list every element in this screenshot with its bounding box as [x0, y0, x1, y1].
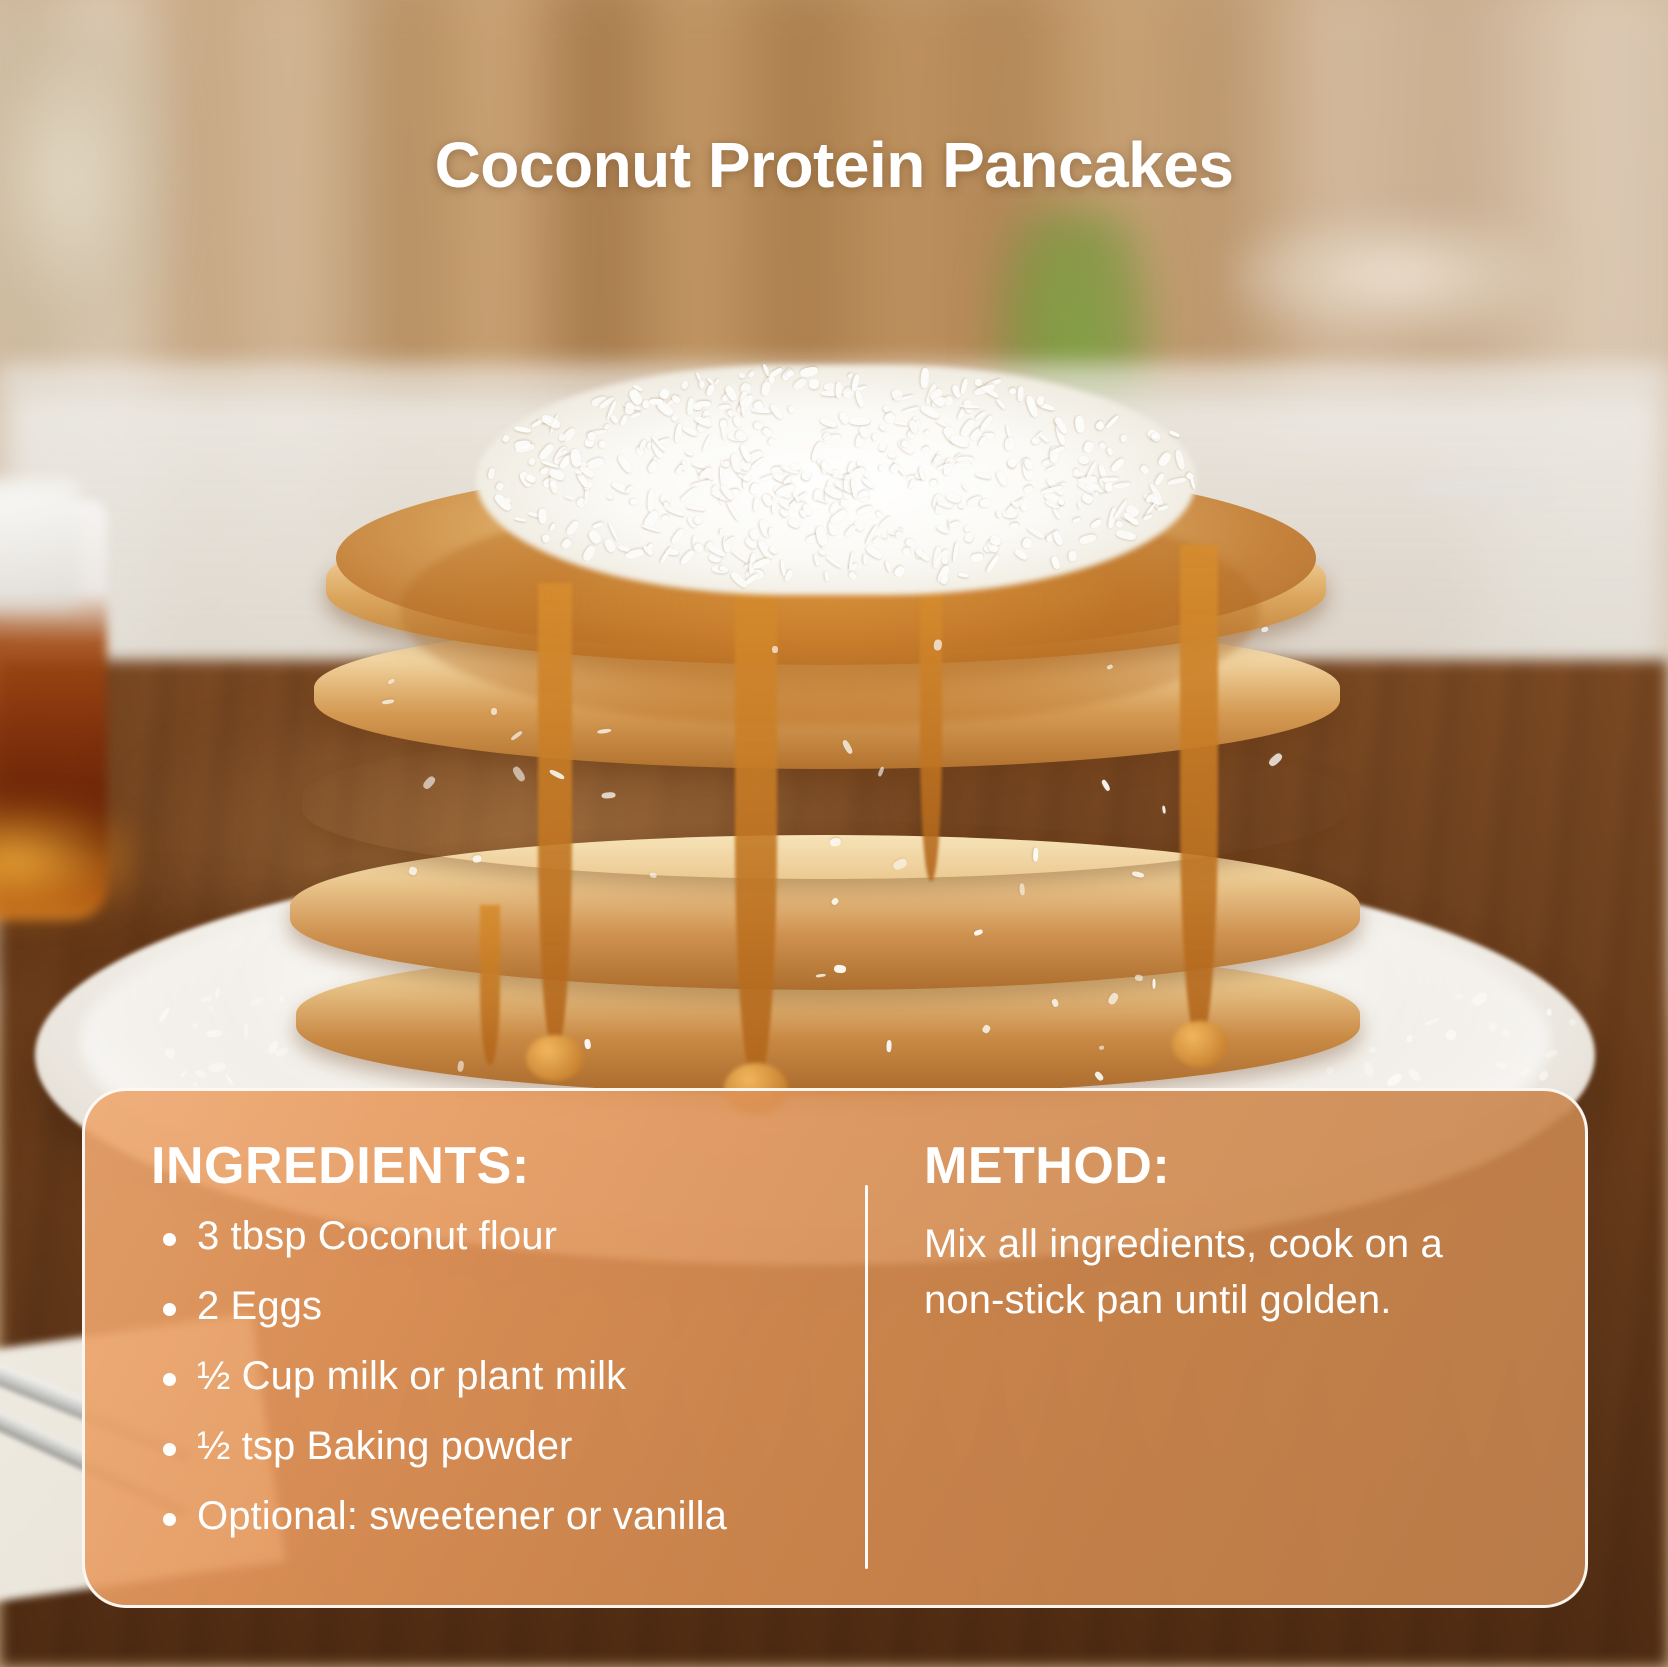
coconut-flake: [768, 527, 774, 536]
coconut-flake: [1014, 548, 1030, 562]
coconut-flake: [679, 548, 695, 565]
coconut-flake: [1168, 477, 1187, 486]
coconut-flake: [843, 474, 850, 492]
coconut-flake: [753, 422, 763, 430]
coconut-flake: [824, 571, 829, 581]
coconut-flake: [902, 547, 911, 556]
coconut-flake: [884, 560, 892, 573]
coconut-flake: [705, 384, 716, 398]
coconut-crumb: [248, 995, 265, 1006]
coconut-flake: [675, 464, 684, 475]
coconut-flake: [865, 525, 878, 545]
coconut-flake: [670, 413, 678, 421]
coconut-flake: [587, 529, 603, 546]
coconut-crumb: [209, 1006, 215, 1013]
coconut-flake: [761, 382, 771, 397]
coconut-flake: [514, 517, 527, 523]
coconut-flake-stray: [892, 857, 909, 871]
method-heading: METHOD:: [924, 1139, 1529, 1194]
coconut-flake: [581, 544, 597, 563]
coconut-flake: [935, 525, 949, 535]
coconut-flake-stray: [1051, 998, 1060, 1008]
coconut-flake: [787, 516, 801, 529]
coconut-flake: [607, 494, 614, 499]
coconut-flake-stray: [973, 928, 983, 936]
coconut-flake: [952, 542, 959, 562]
coconut-flake-stray: [549, 768, 565, 780]
coconut-flake: [964, 533, 974, 543]
coconut-crumb: [1547, 1009, 1552, 1016]
coconut-flake-stray: [829, 838, 841, 848]
coconut-flake: [1017, 386, 1024, 402]
coconut-flake: [649, 399, 663, 405]
coconut-flake: [719, 528, 724, 534]
coconut-flake: [538, 442, 555, 460]
coconut-flake-stray: [886, 1040, 891, 1052]
coconut-flake: [918, 467, 926, 482]
pancake-stack: [280, 345, 1380, 1125]
coconut-flake: [1078, 533, 1097, 546]
coconut-flake: [854, 390, 865, 408]
coconut-flake: [681, 380, 689, 389]
coconut-flake: [685, 450, 694, 457]
coconut-flake: [769, 366, 783, 378]
ingredients-column: INGREDIENTS: 3 tbsp Coconut flour 2 Eggs…: [85, 1091, 865, 1605]
coconut-flake: [879, 424, 887, 431]
coconut-flake: [799, 367, 819, 379]
coconut-flake: [587, 431, 597, 440]
coconut-flake-stray: [1261, 626, 1270, 633]
list-item: 3 tbsp Coconut flour: [151, 1216, 865, 1256]
coconut-flake: [487, 467, 495, 479]
coconut-flake: [1115, 529, 1136, 541]
coconut-flake: [617, 545, 630, 553]
coconut-flake-stray: [1107, 664, 1114, 670]
coconut-crumb: [158, 1006, 171, 1023]
coconut-flake: [986, 553, 1001, 572]
coconut-flake-stray: [878, 766, 885, 777]
coconut-flake: [699, 380, 705, 389]
coconut-flake: [548, 522, 556, 531]
coconut-flake: [1173, 449, 1185, 470]
coconut-flake: [753, 497, 759, 512]
coconut-flake: [1114, 481, 1131, 488]
coconut-flake: [849, 571, 858, 581]
coconut-flake: [564, 494, 574, 500]
coconut-flake: [695, 372, 701, 381]
coconut-flake-stray: [772, 646, 778, 653]
coconut-crumb: [214, 987, 220, 998]
coconut-crumb: [1406, 1035, 1414, 1044]
coconut-flake-stray: [387, 678, 395, 685]
coconut-flake: [988, 544, 998, 552]
coconut-flake: [957, 456, 974, 464]
coconut-flake: [670, 527, 686, 545]
coconut-flake: [959, 378, 968, 395]
coconut-flake: [849, 417, 870, 426]
coconut-flake: [647, 489, 656, 511]
coconut-flake: [730, 549, 749, 564]
coconut-flake: [541, 533, 550, 543]
coconut-flake: [895, 531, 904, 539]
coconut-flake: [930, 480, 938, 488]
coconut-flake: [561, 537, 573, 549]
coconut-flake: [1052, 531, 1064, 547]
coconut-flake-stray: [602, 792, 616, 799]
coconut-flake: [813, 554, 819, 566]
coconut-flake-stray: [510, 731, 523, 742]
coconut-flake: [748, 370, 756, 379]
list-item: ½ Cup milk or plant milk: [151, 1356, 865, 1396]
coconut-flake-stray: [830, 897, 839, 906]
coconut-crumb: [224, 1073, 235, 1087]
coconut-flake: [501, 434, 510, 443]
coconut-crumb: [205, 1030, 222, 1039]
coconut-crumb: [1501, 1029, 1510, 1038]
coconut-flake: [630, 498, 638, 505]
coconut-flake: [887, 451, 897, 459]
coconut-flake: [1005, 437, 1015, 451]
coconut-crumb: [194, 1069, 207, 1079]
coconut-flake: [825, 555, 842, 568]
coconut-flake: [995, 470, 1009, 487]
coconut-flake: [1023, 484, 1035, 495]
coconut-crumb: [1569, 1018, 1576, 1026]
coconut-flake: [787, 406, 795, 414]
coconut-flake: [599, 440, 606, 448]
coconut-flake: [855, 504, 873, 516]
coconut-flake-stray: [981, 1024, 991, 1034]
coconut-crumb: [1537, 1070, 1550, 1083]
coconut-flake: [528, 457, 536, 466]
coconut-flake-stray: [650, 872, 658, 878]
coconut-flake: [570, 449, 583, 468]
coconut-crumb: [1494, 1060, 1508, 1071]
coconut-flake: [861, 477, 876, 490]
coconut-flake: [995, 510, 1001, 518]
coconut-flake: [1050, 555, 1061, 570]
coconut-crumb: [244, 1023, 248, 1038]
coconut-flake-stray: [472, 854, 482, 863]
coconut-flake: [961, 483, 968, 492]
coconut-flake: [646, 442, 652, 449]
coconut-flake-stray: [491, 708, 498, 716]
coconut-flake: [1077, 502, 1082, 510]
coconut-flake: [1139, 464, 1150, 476]
coconut-flake: [819, 417, 837, 429]
coconut-flake: [575, 470, 582, 474]
coconut-crumb: [192, 1082, 198, 1088]
coconut-flake: [558, 433, 565, 441]
coconut-flake-stray: [457, 1060, 465, 1072]
coconut-crumb: [1488, 1023, 1497, 1032]
coconut-crumb: [201, 996, 213, 1003]
coconut-flake-stray: [597, 728, 612, 734]
coconut-flake: [863, 554, 868, 564]
coconut-flake: [1095, 421, 1106, 432]
coconut-flake: [638, 439, 647, 450]
coconut-flake: [565, 519, 581, 536]
coconut-flake-stray: [1098, 1045, 1104, 1050]
coconut-flake: [821, 460, 828, 473]
coconut-flake: [838, 411, 851, 426]
recipe-info-panel: INGREDIENTS: 3 tbsp Coconut flour 2 Eggs…: [82, 1088, 1588, 1608]
coconut-flake: [971, 553, 984, 562]
coconut-flake: [732, 415, 743, 428]
coconut-flake: [905, 538, 915, 547]
coconut-flakes: [280, 345, 1380, 1125]
coconut-flake-stray: [1019, 883, 1025, 896]
coconut-flake: [1156, 450, 1172, 468]
coconut-flake: [1082, 441, 1094, 455]
coconut-flake: [819, 548, 828, 556]
coconut-flake: [1022, 537, 1033, 549]
coconut-flake: [616, 453, 634, 474]
coconut-flake: [730, 453, 743, 474]
coconut-crumb: [164, 1047, 175, 1058]
coconut-flake: [603, 424, 610, 431]
coconut-crumb: [1456, 994, 1464, 999]
coconut-flake: [749, 482, 762, 496]
coconut-flake: [878, 465, 882, 471]
coconut-flake-stray: [833, 965, 846, 974]
coconut-flake: [889, 463, 901, 475]
coconut-flake-stray: [511, 765, 526, 783]
coconut-flake: [979, 498, 990, 507]
coconut-flake: [1010, 522, 1020, 529]
coconut-flake: [849, 478, 858, 498]
coconut-flake: [659, 387, 671, 400]
coconut-flake-stray: [382, 699, 395, 705]
coconut-flake-stray: [1162, 805, 1166, 813]
coconut-flake: [872, 433, 878, 441]
method-column: METHOD: Mix all ingredients, cook on a n…: [868, 1091, 1585, 1605]
list-item: 2 Eggs: [151, 1286, 865, 1326]
list-item: Optional: sweetener or vanilla: [151, 1496, 865, 1536]
coconut-flake: [725, 500, 740, 521]
coconut-flake: [809, 378, 820, 389]
coconut-flake-stray: [1267, 752, 1283, 768]
coconut-flake: [893, 564, 907, 578]
coconut-flake: [685, 504, 704, 511]
coconut-crumb: [1520, 1067, 1532, 1077]
coconut-flake: [674, 423, 683, 443]
coconut-flake: [1008, 387, 1017, 395]
coconut-flake: [495, 482, 505, 492]
coconut-flake: [1099, 442, 1106, 450]
coconut-crumb: [1424, 1017, 1439, 1027]
coconut-flake: [921, 367, 930, 387]
coconut-flake: [894, 421, 910, 427]
coconut-flake: [619, 415, 629, 428]
coconut-flake: [1078, 455, 1088, 463]
coconut-flake: [836, 382, 842, 398]
coconut-flake: [1072, 517, 1081, 524]
coconut-flake: [878, 441, 887, 451]
coconut-flake: [1069, 551, 1077, 561]
coconut-flake: [514, 425, 532, 433]
coconut-flake: [940, 574, 950, 585]
coconut-crumb: [1470, 990, 1489, 1007]
ingredients-list: 3 tbsp Coconut flour 2 Eggs ½ Cup milk o…: [151, 1216, 865, 1536]
list-item: ½ tsp Baking powder: [151, 1426, 865, 1466]
coconut-flake: [693, 402, 702, 410]
coconut-flake-stray: [408, 865, 419, 875]
coconut-flake: [1104, 481, 1114, 493]
coconut-flake: [1046, 465, 1056, 472]
coconut-crumb: [1385, 1071, 1404, 1089]
coconut-flake-stray: [816, 974, 826, 978]
coconut-flake: [957, 572, 967, 578]
coconut-flake: [995, 398, 1006, 409]
coconut-flake-stray: [1101, 779, 1111, 792]
coconut-flake: [610, 414, 619, 424]
coconut-flake-stray: [1134, 974, 1143, 982]
coconut-crumb: [1407, 1067, 1423, 1084]
coconut-flake: [1106, 447, 1114, 456]
coconut-flake: [1074, 415, 1085, 433]
coconut-flake: [844, 524, 857, 538]
coconut-flake: [792, 376, 808, 391]
coconut-flake-stray: [841, 739, 854, 755]
coconut-flake-stray: [584, 1039, 591, 1049]
coconut-flake: [537, 509, 546, 524]
coconut-flake: [739, 373, 746, 379]
coconut-flake: [701, 435, 712, 453]
coconut-crumb: [1545, 1049, 1559, 1059]
coconut-flake: [1169, 430, 1181, 438]
coconut-flake: [681, 424, 698, 437]
coconut-flake: [1105, 414, 1120, 429]
coconut-flake: [767, 437, 777, 447]
coconut-flake: [1110, 457, 1126, 473]
coconut-flake: [724, 461, 730, 467]
coconut-flake: [902, 406, 919, 415]
coconut-flake: [773, 497, 777, 513]
page-title: Coconut Protein Pancakes: [0, 128, 1668, 202]
ingredients-heading: INGREDIENTS:: [151, 1139, 865, 1194]
coconut-crumb: [180, 1071, 187, 1078]
coconut-flake: [591, 521, 603, 529]
coconut-crumb: [1445, 1030, 1456, 1042]
coconut-flake-stray: [933, 639, 942, 651]
coconut-flake: [1052, 508, 1062, 521]
coconut-flake: [761, 426, 773, 437]
coconut-flake: [680, 487, 698, 503]
coconut-flake: [958, 503, 965, 509]
coconut-flake: [975, 471, 992, 479]
coconut-flake-stray: [1106, 991, 1119, 1006]
method-text: Mix all ingredients, cook on a non-stick…: [924, 1216, 1529, 1330]
coconut-flake: [714, 379, 720, 386]
coconut-flake: [922, 446, 930, 453]
coconut-flake: [963, 524, 972, 532]
coconut-flake: [872, 536, 880, 544]
coconut-flake: [493, 493, 514, 514]
coconut-flake: [815, 525, 829, 546]
coconut-flake: [1090, 518, 1104, 530]
coconut-flake: [875, 510, 884, 519]
coconut-flake: [942, 557, 949, 565]
coconut-flake: [1100, 478, 1119, 482]
coconut-flake: [1120, 435, 1127, 442]
coconut-flake: [719, 466, 723, 485]
coconut-flake: [661, 514, 670, 522]
coconut-flake: [1153, 471, 1165, 485]
coconut-flake: [923, 429, 929, 435]
coconut-crumb: [208, 1062, 226, 1073]
coconut-flake: [977, 436, 987, 448]
coconut-flake: [881, 533, 887, 539]
coconut-flake: [780, 560, 787, 577]
coconut-flake-stray: [422, 775, 437, 791]
coconut-flake-stray: [1033, 848, 1038, 862]
recipe-card-image: Coconut Protein Pancakes INGREDIENTS: 3 …: [0, 0, 1668, 1667]
coconut-crumb: [191, 1022, 200, 1031]
coconut-flake-stray: [1152, 978, 1155, 988]
coconut-flake: [1115, 520, 1124, 529]
coconut-flake: [720, 420, 727, 429]
coconut-flake-stray: [1093, 1070, 1104, 1082]
coconut-flake-stray: [1131, 871, 1144, 879]
